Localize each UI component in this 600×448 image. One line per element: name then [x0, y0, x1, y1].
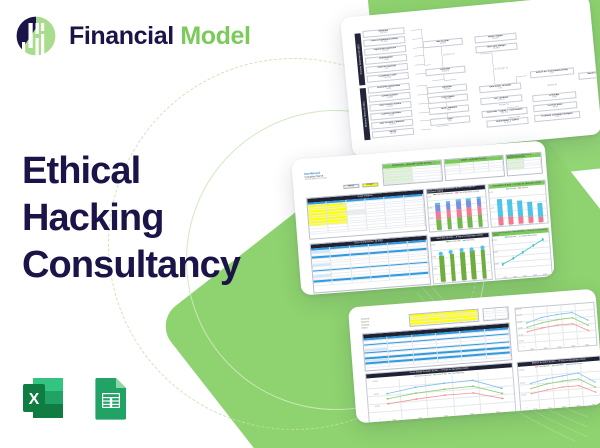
dashboard-sheet: Dashboard Company Name Annual Values For…	[298, 148, 549, 288]
card-financial-dashboard[interactable]: Dashboard Company Name Annual Values For…	[291, 140, 555, 295]
brand-wordmark: Financial Model	[69, 22, 251, 51]
chart-plot-area: 120,00080,00040,0000 20202021 20222023 2…	[518, 364, 600, 413]
chart-ebitda-evolution[interactable]: EBITDA Evolution (€ 000) — 5 Years for D…	[517, 355, 600, 411]
poster-canvas: Financial Model Ethical Hacking Consulta…	[0, 0, 600, 448]
microsoft-excel-icon[interactable]: X	[20, 375, 66, 421]
chart-plot-area: 120,000100,00080,00060,00040,00020,0000 …	[515, 303, 596, 353]
report-meta: CompanyScenarioCurrencyPeriod	[361, 318, 370, 331]
stacked-bar	[456, 199, 463, 228]
brand-name-secondary: Model	[180, 22, 250, 50]
panel-debt-assumptions: DEBT ASSUMPTIONS	[444, 155, 506, 182]
stacked-bar	[466, 198, 473, 227]
chart-plot-area: 8,0004,0000 20202021202220232024	[489, 188, 548, 229]
panel-yellow-inputs	[409, 309, 480, 327]
bar	[470, 250, 477, 279]
print-button[interactable]: PRINT	[343, 184, 359, 189]
panel-side-inputs	[482, 306, 509, 321]
bar	[450, 253, 457, 280]
line-series-revenues	[497, 237, 549, 274]
chart-revenues-projection[interactable]: Revenues Projection Trend (€ 000) — 5 Ye…	[491, 227, 553, 279]
dashboard-period: Annual Values Forecast	[305, 177, 327, 181]
stacked-bar	[517, 200, 523, 223]
page-title-line-1: Ethical	[22, 148, 290, 195]
stacked-bar	[446, 201, 453, 229]
panel-financial-assumptions: FINANCIAL ASSUMPTIONS (€ 000)	[382, 159, 444, 186]
brand-name-primary: Financial	[69, 22, 174, 50]
page-title: Ethical Hacking Consultancy	[22, 148, 290, 289]
file-format-icons: X	[20, 375, 134, 421]
profitability-sheet: CompanyScenarioCurrencyPeriod	[354, 296, 597, 416]
google-sheets-icon[interactable]	[88, 375, 134, 421]
panel-cash-outputs: Cash Outputs	[306, 189, 427, 240]
svg-text:X: X	[29, 391, 40, 408]
bar-group	[494, 189, 546, 225]
page-title-line-2: Hacking	[22, 195, 290, 242]
panel-working-capital: WORKING CAPITAL & AMORTIZATION	[505, 152, 543, 177]
stacked-bar	[527, 201, 533, 222]
bar	[460, 251, 467, 279]
chart-plot-area: 12,0008,0004,0000 20202021202220232024	[427, 192, 488, 233]
panel-cost-composition: Cost Composition (€ 000)	[310, 235, 431, 294]
brand-logo: Financial Model	[14, 14, 251, 58]
stacked-bar	[476, 196, 483, 226]
x-axis-labels: 20202021202220232024	[500, 273, 550, 280]
stacked-bar	[435, 202, 442, 229]
chart-gross-margin-evolution-right[interactable]: 120,000100,00080,00060,00040,00020,0000 …	[514, 302, 597, 352]
card-profitability-report[interactable]: CompanyScenarioCurrencyPeriod	[348, 289, 600, 424]
line-series-group	[522, 304, 594, 344]
page-title-line-3: Consultancy	[22, 242, 290, 289]
chart-amortization[interactable]: Amortization (€ 000) — 5 Years for Decem…	[488, 179, 549, 227]
reset-button[interactable]: RESET	[362, 182, 378, 187]
stacked-bar	[507, 199, 513, 224]
dashboard-header: Dashboard Company Name Annual Values For…	[304, 170, 327, 181]
chart-plot-area: 120,00080,00040,0000 2020202120222023202…	[493, 235, 552, 280]
stacked-bar	[497, 198, 503, 224]
line-series-group	[525, 365, 600, 404]
chart-cash-flow[interactable]: Cash flow (€ 000) — 5 Years for December…	[429, 232, 493, 284]
dupont-tree: Income Statement (€ 000) Balance Sheet (…	[349, 4, 593, 147]
bar-group	[432, 193, 486, 229]
chart-costs-composition[interactable]: Costs Composition Breakdown (€ 000) — 5 …	[426, 184, 489, 232]
financial-model-circle-logo-icon	[14, 14, 58, 58]
chart-plot-area: 12,0008,0004,0000 20202021202220232	[431, 240, 492, 285]
bar	[480, 249, 487, 278]
stacked-bar	[537, 202, 543, 221]
card-dupont-analysis[interactable]: Income Statement (€ 000) Balance Sheet (…	[340, 0, 600, 157]
chart-gross-margin-evolution[interactable]: Gross Margin Evolution (€ 000) — 5 Years…	[365, 362, 516, 423]
bar	[439, 255, 446, 281]
